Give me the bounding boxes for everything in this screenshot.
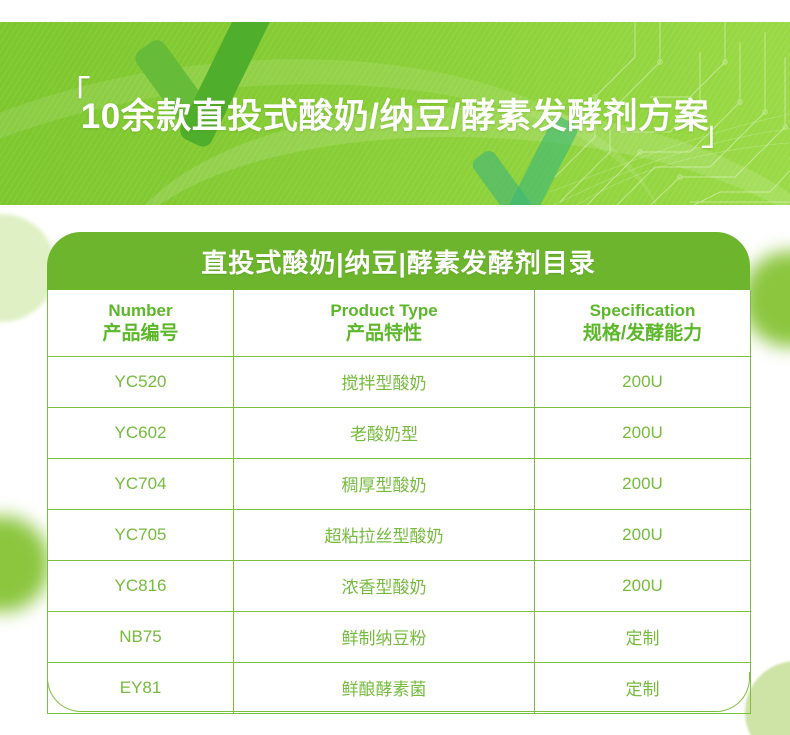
bracket-close: 」 xyxy=(701,117,736,151)
column-header-product-type: Product Type 产品特性 xyxy=(234,290,535,356)
table-row: YC704 稠厚型酸奶 200U xyxy=(48,458,751,509)
catalog-card-header: 直投式酸奶|纳豆|酵素发酵剂目录 xyxy=(47,232,750,290)
table-row: YC705 超粘拉丝型酸奶 200U xyxy=(48,509,751,560)
catalog-title: 直投式酸奶|纳豆|酵素发酵剂目录 xyxy=(201,243,596,280)
table-header-row: Number 产品编号 Product Type 产品特性 Specificat… xyxy=(48,290,751,356)
cell-type: 浓香型酸奶 xyxy=(234,560,535,611)
cell-spec: 200U xyxy=(535,560,751,611)
table-row: EY81 鲜酿酵素菌 定制 xyxy=(48,662,751,713)
cell-type: 超粘拉丝型酸奶 xyxy=(234,509,535,560)
cell-spec: 200U xyxy=(535,356,751,407)
column-header-specification-cn: 规格/发酵能力 xyxy=(537,322,748,346)
cell-number: YC705 xyxy=(48,509,234,560)
cell-spec: 200U xyxy=(535,509,751,560)
bracket-open: 「 xyxy=(57,77,92,111)
cell-type: 搅拌型酸奶 xyxy=(234,356,535,407)
decor-circle-right-bottom xyxy=(745,661,790,735)
cell-number: EY81 xyxy=(48,662,234,713)
table-row: YC602 老酸奶型 200U xyxy=(48,407,751,458)
cell-spec: 定制 xyxy=(535,662,751,713)
column-header-product-type-en: Product Type xyxy=(236,300,532,321)
column-header-number: Number 产品编号 xyxy=(48,290,234,356)
cell-spec: 定制 xyxy=(535,611,751,662)
catalog-table-head: Number 产品编号 Product Type 产品特性 Specificat… xyxy=(48,290,751,356)
banner-title-text: 10余款直投式酸奶/纳豆/酵素发酵剂方案 xyxy=(81,97,709,136)
hero-banner: 「 10余款直投式酸奶/纳豆/酵素发酵剂方案 」 xyxy=(0,22,790,205)
cell-number: YC704 xyxy=(48,458,234,509)
catalog-card: 直投式酸奶|纳豆|酵素发酵剂目录 Number 产品编号 Product Typ… xyxy=(47,232,750,712)
table-row: YC816 浓香型酸奶 200U xyxy=(48,560,751,611)
cell-number: YC602 xyxy=(48,407,234,458)
cell-type: 稠厚型酸奶 xyxy=(234,458,535,509)
catalog-table: Number 产品编号 Product Type 产品特性 Specificat… xyxy=(47,290,751,714)
table-row: YC520 搅拌型酸奶 200U xyxy=(48,356,751,407)
cell-type: 鲜酿酵素菌 xyxy=(234,662,535,713)
cell-number: NB75 xyxy=(48,611,234,662)
column-header-number-cn: 产品编号 xyxy=(50,322,231,346)
cell-number: YC520 xyxy=(48,356,234,407)
column-header-product-type-cn: 产品特性 xyxy=(236,322,532,346)
column-header-specification: Specification 规格/发酵能力 xyxy=(535,290,751,356)
cell-spec: 200U xyxy=(535,407,751,458)
cell-type: 鲜制纳豆粉 xyxy=(234,611,535,662)
banner-title: 「 10余款直投式酸奶/纳豆/酵素发酵剂方案 」 xyxy=(55,88,735,139)
column-header-number-en: Number xyxy=(50,300,231,321)
table-row: NB75 鲜制纳豆粉 定制 xyxy=(48,611,751,662)
cell-number: YC816 xyxy=(48,560,234,611)
column-header-specification-en: Specification xyxy=(537,300,748,321)
page-root: 「 10余款直投式酸奶/纳豆/酵素发酵剂方案 」 直投式酸奶|纳豆|酵素发酵剂目… xyxy=(0,0,790,735)
decor-circle-left-middle xyxy=(0,516,50,612)
cell-type: 老酸奶型 xyxy=(234,407,535,458)
cell-spec: 200U xyxy=(535,458,751,509)
banner-title-wrap: 「 10余款直投式酸奶/纳豆/酵素发酵剂方案 」 xyxy=(0,22,790,205)
catalog-table-body: YC520 搅拌型酸奶 200U YC602 老酸奶型 200U YC704 稠… xyxy=(48,356,751,713)
